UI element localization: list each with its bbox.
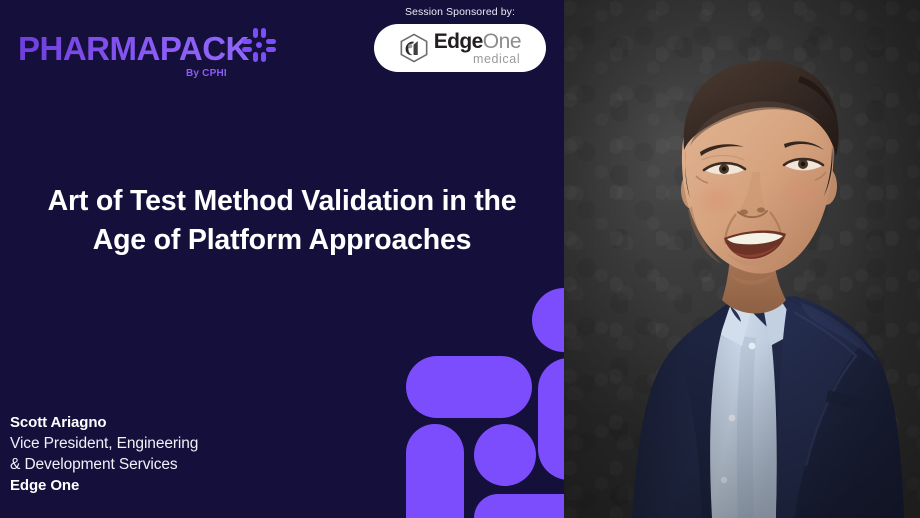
- slide-left-panel: PHARMAPACK By CPHI Session Sponsored by:: [0, 0, 564, 518]
- decor-column-left: [406, 424, 464, 518]
- page-title: Art of Test Method Validation in the Age…: [22, 182, 542, 260]
- sponsor-block: Session Sponsored by: EdgeOne medical: [374, 6, 546, 72]
- speaker-company: Edge One: [10, 475, 340, 496]
- purple-pill-pattern: [396, 272, 564, 518]
- photo-vignette: [564, 0, 920, 518]
- sponsor-name-primary: Edge: [434, 31, 483, 52]
- starburst-icon: [240, 26, 278, 64]
- decor-horizontal-pill: [406, 356, 532, 418]
- speaker-role-line-1: Vice President, Engineering: [10, 433, 340, 454]
- pharmapack-logo: PHARMAPACK By CPHI: [18, 26, 268, 86]
- sponsor-name-group: EdgeOne medical: [434, 31, 521, 66]
- speaker-name: Scott Ariagno: [10, 412, 340, 433]
- decor-circle-middle: [474, 424, 536, 486]
- presentation-slide: PHARMAPACK By CPHI Session Sponsored by:: [0, 0, 920, 518]
- sponsor-logo-pill: EdgeOne medical: [374, 24, 546, 72]
- speaker-photo-panel: [564, 0, 920, 518]
- sponsor-label: Session Sponsored by:: [374, 6, 546, 18]
- sponsor-tagline: medical: [473, 53, 520, 66]
- sponsor-name-secondary: One: [483, 31, 522, 52]
- decor-vertical-pill-right: [538, 358, 564, 480]
- decor-circle-top-right: [532, 288, 564, 352]
- decor-rounded-rect-bottom-right: [474, 494, 564, 518]
- speaker-role-line-2: & Development Services: [10, 454, 340, 475]
- pharmapack-byline: By CPHI: [186, 68, 227, 79]
- pharmapack-wordmark: PHARMAPACK: [18, 32, 249, 65]
- speaker-block: Scott Ariagno Vice President, Engineerin…: [10, 412, 340, 496]
- edgeone-cube-icon: [399, 33, 429, 63]
